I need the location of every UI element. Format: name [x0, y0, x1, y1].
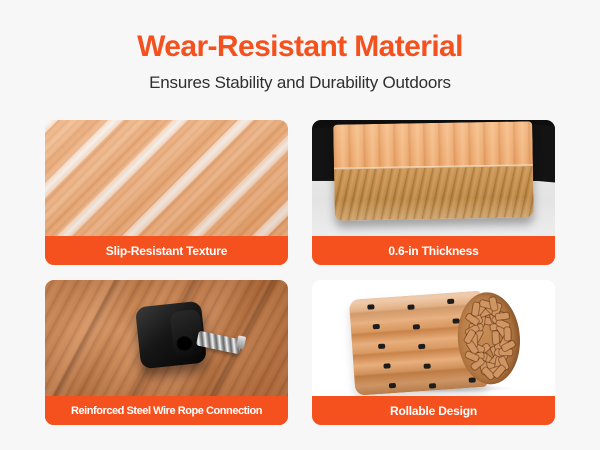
rope-channel-hole: [175, 334, 194, 352]
roll-slat-cross-section: [496, 312, 510, 320]
roll-connector-peg: [389, 383, 396, 388]
roll-connector-peg: [407, 304, 414, 309]
feature-panel-thickness: 0.6-in Thickness: [312, 120, 555, 265]
board-top-surface: [333, 121, 533, 170]
feature-grid: Slip-Resistant Texture 0.6-in Thickness: [45, 120, 555, 425]
roll-connector-peg: [423, 363, 430, 368]
wood-board-graphic: [333, 121, 534, 220]
rolled-wood-mat-graphic: [349, 288, 523, 395]
feature-caption: Rollable Design: [312, 396, 555, 425]
poster-title: Wear-Resistant Material: [0, 30, 600, 63]
promo-poster: Wear-Resistant Material Ensures Stabilit…: [0, 0, 600, 450]
feature-caption: Slip-Resistant Texture: [45, 236, 288, 265]
feature-panel-slip-resistant-texture: Slip-Resistant Texture: [45, 120, 288, 265]
feature-panel-rollable-design: Rollable Design: [312, 280, 555, 425]
roll-connector-peg: [429, 383, 436, 388]
poster-header: Wear-Resistant Material Ensures Stabilit…: [0, 0, 600, 93]
roll-connector-peg: [373, 324, 380, 329]
roll-slat-cross-section: [504, 327, 510, 340]
rubber-spacer-block: [135, 301, 207, 370]
board-front-face: [334, 166, 534, 220]
roll-connector-peg: [378, 344, 385, 349]
roll-connector-peg: [367, 304, 374, 309]
feature-caption: 0.6-in Thickness: [312, 236, 555, 265]
roll-connector-peg: [383, 363, 390, 368]
feature-caption: Reinforced Steel Wire Rope Connection: [45, 396, 288, 425]
roll-connector-peg: [418, 344, 425, 349]
poster-subtitle: Ensures Stability and Durability Outdoor…: [0, 73, 600, 93]
roll-connector-peg: [447, 299, 454, 304]
feature-panel-wire-rope-connection: Reinforced Steel Wire Rope Connection: [45, 280, 288, 425]
roll-connector-peg: [413, 324, 420, 329]
